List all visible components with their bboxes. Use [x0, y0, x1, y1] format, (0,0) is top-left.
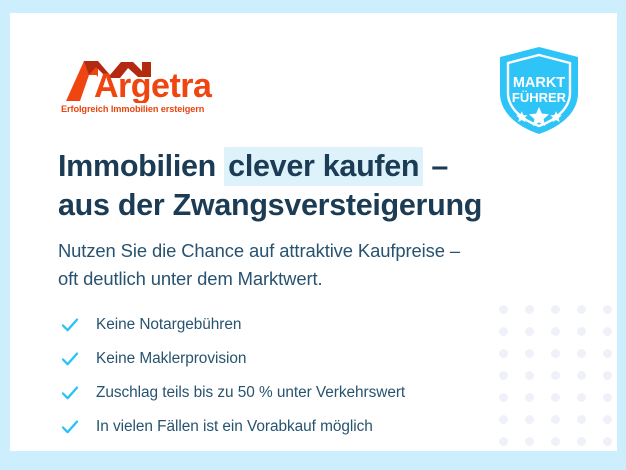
headline-line2: aus der Zwangsversteigerung [58, 188, 482, 222]
dot [525, 371, 534, 380]
dot [603, 393, 612, 402]
dot [577, 415, 586, 424]
headline-line1-before: Immobilien [58, 149, 224, 183]
dot [525, 349, 534, 358]
list-item-label: In vielen Fällen ist ein Vorabkauf mögli… [96, 418, 373, 436]
dot [525, 393, 534, 402]
dot [551, 327, 560, 336]
dot [577, 349, 586, 358]
dot [551, 415, 560, 424]
dot [525, 327, 534, 336]
dot [577, 371, 586, 380]
dot [577, 393, 586, 402]
badge-line1: MARKT [513, 75, 565, 91]
svg-text:Argetra: Argetra [94, 67, 213, 103]
check-icon [60, 315, 80, 335]
page-title: Immobilien clever kaufen – aus der Zwang… [58, 147, 578, 225]
market-leader-badge: MARKT FÜHRER [496, 45, 582, 137]
list-item: Keine Notargebühren [60, 310, 520, 340]
promo-banner: Argetra Erfolgreich Immobilien ersteiger… [0, 0, 626, 470]
dot [603, 327, 612, 336]
list-item-label: Zuschlag teils bis zu 50 % unter Verkehr… [96, 384, 405, 402]
list-item: In vielen Fällen ist ein Vorabkauf mögli… [60, 412, 520, 442]
check-icon [60, 349, 80, 369]
dot [525, 415, 534, 424]
dot [551, 371, 560, 380]
subtitle-line2: oft deutlich unter dem Marktwert. [58, 268, 323, 289]
dot [577, 437, 586, 446]
check-icon [60, 417, 80, 437]
dot [551, 349, 560, 358]
subtitle-line1: Nutzen Sie die Chance auf attraktive Kau… [58, 240, 460, 261]
dot [551, 437, 560, 446]
argetra-wordmark-icon: Argetra [58, 55, 258, 103]
list-item: Keine Maklerprovision [60, 344, 520, 374]
page-subtitle: Nutzen Sie die Chance auf attraktive Kau… [58, 237, 578, 293]
dot [603, 305, 612, 314]
dot [551, 305, 560, 314]
logo-tagline: Erfolgreich Immobilien ersteigern [61, 104, 204, 114]
dot [603, 415, 612, 424]
promo-card: Argetra Erfolgreich Immobilien ersteiger… [10, 13, 617, 451]
list-item-label: Keine Maklerprovision [96, 350, 246, 368]
dot [525, 305, 534, 314]
dot [525, 437, 534, 446]
dot [551, 393, 560, 402]
argetra-logo[interactable]: Argetra Erfolgreich Immobilien ersteiger… [58, 55, 258, 121]
headline-highlight: clever kaufen [224, 147, 423, 186]
dot [577, 327, 586, 336]
dot [577, 305, 586, 314]
dot [603, 371, 612, 380]
benefit-list: Keine NotargebührenKeine Maklerprovision… [60, 310, 520, 446]
check-icon [60, 383, 80, 403]
list-item-label: Keine Notargebühren [96, 316, 241, 334]
headline-line1-after: – [423, 149, 448, 183]
list-item: Zuschlag teils bis zu 50 % unter Verkehr… [60, 378, 520, 408]
shield-icon: MARKT FÜHRER [496, 45, 582, 137]
dot [603, 349, 612, 358]
badge-line2: FÜHRER [512, 90, 567, 105]
dot [603, 437, 612, 446]
